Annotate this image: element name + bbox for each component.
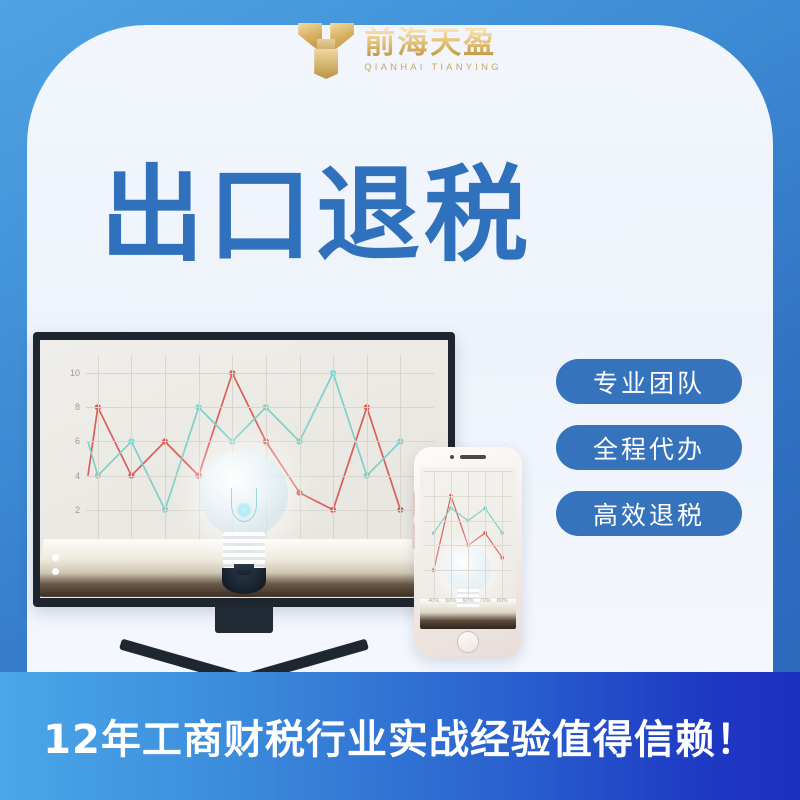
monitor-stand-neck <box>215 607 273 633</box>
feature-pill-1[interactable]: 全程代办 <box>556 425 742 470</box>
volume-up-button[interactable] <box>412 491 415 517</box>
brand-text: 前海天盈 QIANHAI TIANYING <box>364 27 502 73</box>
chart-ytick-label: 8 <box>75 402 80 412</box>
brand-logo: 前海天盈 QIANHAI TIANYING <box>0 14 800 86</box>
home-button[interactable] <box>457 631 479 653</box>
chart-gridline-v <box>333 356 334 544</box>
brand-name-en: QIANHAI TIANYING <box>364 62 502 73</box>
chart-gridline-v <box>165 356 166 544</box>
feature-pill-0[interactable]: 专业团队 <box>556 359 742 404</box>
feature-pill-list: 专业团队 全程代办 高效退税 <box>556 359 742 557</box>
phone-chart-xtick-label: 40% <box>428 598 439 604</box>
chart-ytick-label: 10 <box>70 368 80 378</box>
chart-gridline-v <box>131 356 132 544</box>
feature-pill-2[interactable]: 高效退税 <box>556 491 742 536</box>
phone-chart-gridline-v <box>468 471 469 599</box>
monitor-screen: 10%20%30%40%50%60%70%80%90%100%0246810 <box>40 340 448 598</box>
chart-ytick-label: 2 <box>75 505 80 515</box>
phone-screen: 40%50%60%70%80% <box>420 467 516 629</box>
phone-chart-gridline-h <box>424 471 512 472</box>
phone-chart-gridline-h <box>424 521 512 522</box>
chart-gridline-h <box>86 441 434 442</box>
phone-chart-gridline-h <box>424 570 512 571</box>
screen-indicator-dots <box>52 554 59 582</box>
phone-chart-gridline-v <box>451 471 452 599</box>
phone-chart-gridline-v <box>434 471 435 599</box>
phone-chart-gridline-h <box>424 496 512 497</box>
monitor-bezel: 10%20%30%40%50%60%70%80%90%100%0246810 <box>33 332 455 607</box>
chart-ytick-label: 4 <box>75 471 80 481</box>
chart-ytick-label: 6 <box>75 436 80 446</box>
phone-chart-xtick-label: 50% <box>445 598 456 604</box>
phone-chart-xtick-label: 70% <box>480 598 491 604</box>
phone-chart-xtick-label: 80% <box>497 598 508 604</box>
front-camera-icon <box>450 455 454 459</box>
speaker-grille-icon <box>460 455 486 459</box>
volume-down-button[interactable] <box>412 523 415 549</box>
trident-t-logo-icon <box>298 21 354 79</box>
bottom-banner: 12年工商财税行业实战经验值得信赖！ <box>0 672 800 800</box>
brand-name-cn: 前海天盈 <box>364 27 496 60</box>
phone-chart-gridline-h <box>424 545 512 546</box>
chart-gridline-h <box>86 407 434 408</box>
phone-chart-gridline-v <box>485 471 486 599</box>
chart-gridline-v <box>400 356 401 544</box>
chart-gridline-v <box>98 356 99 544</box>
desktop-monitor: 10%20%30%40%50%60%70%80%90%100%0246810 <box>33 332 455 685</box>
lightbulb-image <box>196 450 292 572</box>
banner-text: 12年工商财税行业实战经验值得信赖！ <box>43 707 757 765</box>
phone-chart-xtick-label: 60% <box>462 598 473 604</box>
chart-gridline-v <box>300 356 301 544</box>
smartphone: 40%50%60%70%80% <box>414 447 522 657</box>
chart-gridline-h <box>86 373 434 374</box>
phone-chart-gridline-v <box>502 471 503 599</box>
chart-gridline-v <box>367 356 368 544</box>
page-title: 出口退税 <box>100 163 532 267</box>
phone-earpiece <box>414 455 522 459</box>
poster-root: 前海天盈 QIANHAI TIANYING 出口退税 10%20%30%40%5… <box>0 0 800 800</box>
